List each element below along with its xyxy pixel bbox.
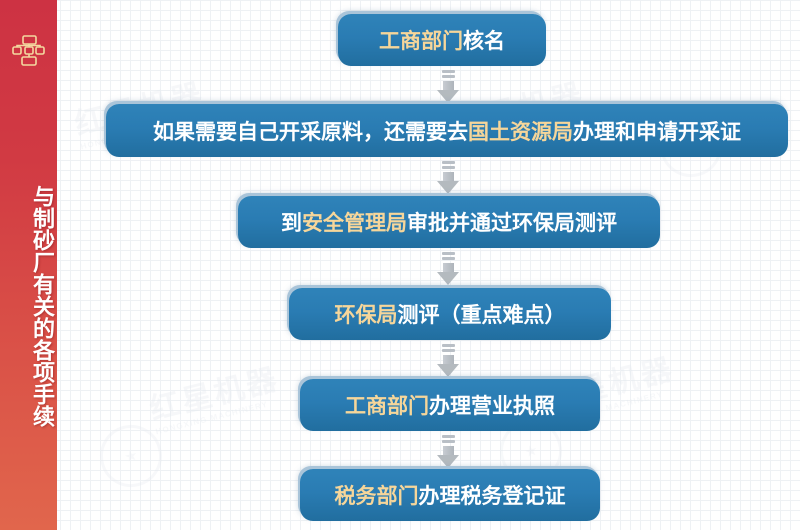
flow-step-highlight: 国土资源局 (468, 116, 573, 146)
flow-step-box[interactable]: 环保局测评（重点难点） (289, 288, 611, 340)
arrow-dash (442, 257, 455, 260)
flow-step-highlight: 安全管理局 (302, 207, 407, 237)
flow-step-text: 核名 (463, 25, 505, 55)
flow-step-box[interactable]: 到安全管理局审批并通过环保局测评 (238, 196, 660, 248)
arrow-dash (442, 435, 455, 438)
flow-arrow-down-icon (435, 252, 461, 285)
flow-arrow-down-icon (435, 161, 461, 194)
flow-step-highlight: 工商部门 (345, 390, 429, 420)
flow-step-text: 办理和申请开采证 (573, 116, 741, 146)
sitemap-icon (0, 33, 57, 67)
flow-step-box[interactable]: 工商部门核名 (338, 14, 546, 66)
flow-step-text: 到 (281, 207, 302, 237)
arrow-head (437, 181, 459, 194)
flow-step-highlight: 税务部门 (335, 480, 419, 510)
arrow-dash (442, 440, 455, 443)
arrow-dash (442, 166, 455, 169)
arrow-shaft (443, 172, 454, 181)
arrow-shaft (443, 263, 454, 272)
flow-step-text: 如果需要自己开采原料，还需要去 (153, 116, 468, 146)
arrow-dash (442, 344, 455, 347)
flow-step-box[interactable]: 税务部门办理税务登记证 (300, 469, 600, 521)
flow-arrow-down-icon (435, 435, 461, 468)
arrow-dash (442, 161, 455, 164)
arrow-dash (442, 349, 455, 352)
flow-step-text: 办理税务登记证 (419, 480, 566, 510)
arrow-dash (442, 75, 455, 78)
flow-step-box[interactable]: 工商部门办理营业执照 (300, 379, 600, 431)
flow-step-highlight: 环保局 (335, 299, 398, 329)
arrow-shaft (443, 355, 454, 364)
flow-step-box[interactable]: 如果需要自己开采原料，还需要去国土资源局办理和申请开采证 (106, 104, 788, 157)
grid-background (0, 0, 800, 530)
arrow-shaft (443, 81, 454, 90)
arrow-shaft (443, 446, 454, 455)
arrow-head (437, 455, 459, 468)
sidebar-title: 与制砂厂有关的各项手续 (0, 96, 57, 516)
flow-step-highlight: 工商部门 (379, 25, 463, 55)
arrow-head (437, 90, 459, 103)
arrow-head (437, 364, 459, 377)
arrow-dash (442, 70, 455, 73)
flow-arrow-down-icon (435, 344, 461, 377)
flow-step-text: 办理营业执照 (429, 390, 555, 420)
arrow-head (437, 272, 459, 285)
sidebar: 与制砂厂有关的各项手续 (0, 0, 57, 530)
flow-step-text: 测评（重点难点） (398, 299, 566, 329)
flow-step-text: 审批并通过环保局测评 (407, 207, 617, 237)
arrow-dash (442, 252, 455, 255)
flow-arrow-down-icon (435, 70, 461, 103)
flowchart-page: 红星机器 HONGXING MACHINERY 红星机器 HONGXING MA… (0, 0, 800, 530)
